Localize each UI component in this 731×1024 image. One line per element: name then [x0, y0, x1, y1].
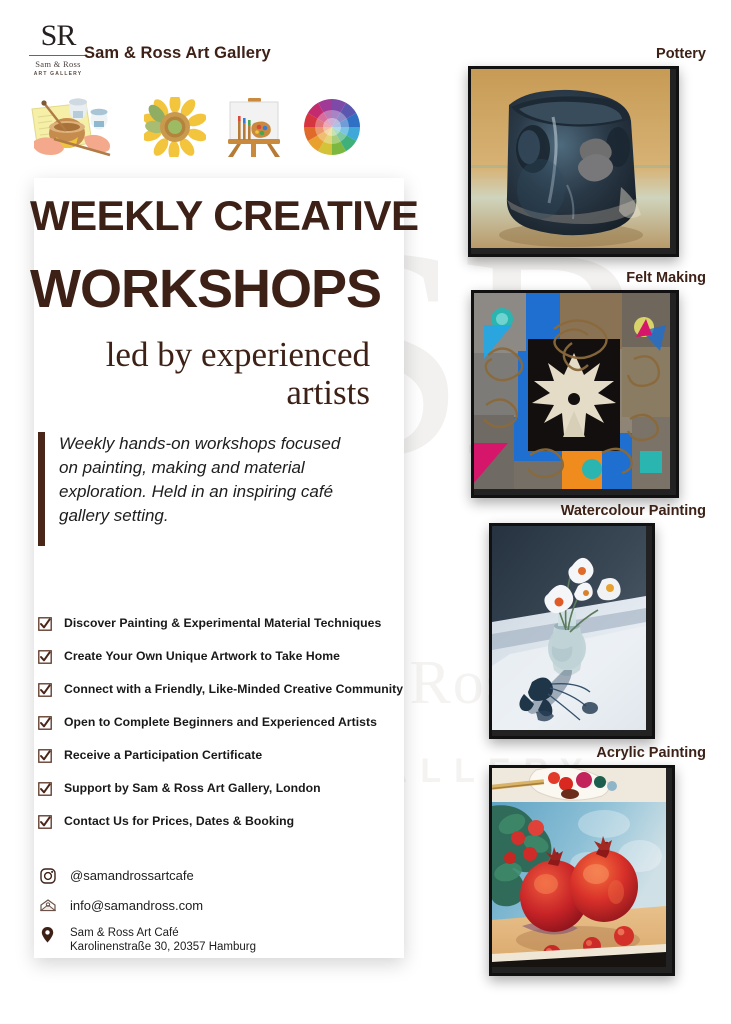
- gallery-image-frame[interactable]: [468, 66, 679, 257]
- contact-email[interactable]: info@samandross.com: [40, 898, 256, 917]
- checkmark-icon: [38, 749, 52, 768]
- felted-sunflower-icon: [144, 97, 206, 162]
- checklist-label: Create Your Own Unique Artwork to Take H…: [64, 649, 340, 663]
- easel-palette-icon: [224, 96, 284, 163]
- checklist-item[interactable]: Open to Complete Beginners and Experienc…: [38, 715, 458, 735]
- checkmark-icon: [38, 716, 52, 735]
- checklist-label: Support by Sam & Ross Art Gallery, Londo…: [64, 781, 321, 795]
- checkmark-icon: [38, 683, 52, 702]
- gallery-label: Felt Making: [460, 270, 731, 286]
- description-text: Weekly hands-on workshops focused on pai…: [59, 432, 359, 546]
- location-pin-icon: [40, 926, 58, 949]
- checklist-label: Discover Painting & Experimental Materia…: [64, 616, 381, 630]
- gallery-logo: SR Sam & Ross ART GALLERY: [24, 20, 92, 77]
- felt-making-image: [474, 293, 670, 489]
- headline-line-3: led by experienced artists: [30, 336, 370, 412]
- description-block: Weekly hands-on workshops focused on pai…: [38, 432, 359, 546]
- gallery-label: Pottery: [460, 46, 731, 62]
- checklist-label: Contact Us for Prices, Dates & Booking: [64, 814, 294, 828]
- pottery-image: [471, 69, 670, 248]
- checklist-item[interactable]: Receive a Participation Certificate: [38, 748, 458, 768]
- checklist-item[interactable]: Discover Painting & Experimental Materia…: [38, 616, 458, 636]
- envelope-icon: [40, 898, 58, 917]
- gallery-item-pottery: Pottery: [460, 46, 731, 257]
- checklist-label: Connect with a Friendly, Like-Minded Cre…: [64, 682, 403, 696]
- logo-tagline: ART GALLERY: [24, 71, 92, 77]
- checklist-item[interactable]: Contact Us for Prices, Dates & Booking: [38, 814, 458, 834]
- benefits-checklist: Discover Painting & Experimental Materia…: [38, 616, 458, 847]
- checkmark-icon: [38, 782, 52, 801]
- checklist-label: Open to Complete Beginners and Experienc…: [64, 715, 377, 729]
- checklist-item[interactable]: Create Your Own Unique Artwork to Take H…: [38, 649, 458, 669]
- gallery-item-acrylic: Acrylic Painting: [460, 745, 731, 976]
- gallery-item-felt: Felt Making: [460, 270, 731, 498]
- gallery-image-frame[interactable]: [471, 290, 679, 498]
- contact-instagram[interactable]: @samandrossartcafe: [40, 868, 256, 889]
- checklist-label: Receive a Participation Certificate: [64, 748, 262, 762]
- checkmark-icon: [38, 650, 52, 669]
- colour-wheel-icon: [302, 97, 362, 162]
- gallery-label: Watercolour Painting: [460, 503, 731, 519]
- gallery-item-watercolour: Watercolour Painting: [460, 503, 731, 739]
- checkmark-icon: [38, 617, 52, 636]
- headline-line-1: WEEKLY CREATIVE: [30, 192, 418, 240]
- contact-block: @samandrossartcafe info@samandross.com: [40, 868, 256, 964]
- acrylic-image: [492, 768, 666, 967]
- pottery-painting-icon: [26, 97, 126, 162]
- checklist-item[interactable]: Connect with a Friendly, Like-Minded Cre…: [38, 682, 458, 702]
- logo-divider: [29, 55, 87, 56]
- checklist-item[interactable]: Support by Sam & Ross Art Gallery, Londo…: [38, 781, 458, 801]
- instagram-icon: [40, 868, 58, 889]
- gallery-image-frame[interactable]: [489, 765, 675, 976]
- watercolour-image: [492, 526, 646, 730]
- art-icon-row: [26, 96, 362, 163]
- poster-root: SR Sam & Ross ART GALLERY SR Sam & Ross …: [0, 0, 731, 1024]
- venue-label: Sam & Ross Art Café: [70, 927, 179, 939]
- contact-address[interactable]: Sam & Ross Art Café Karolinenstraße 30, …: [40, 926, 256, 955]
- street-address: Karolinenstraße 30, 20357 Hamburg: [70, 941, 256, 953]
- venue-name: Sam & Ross Art Café Karolinenstraße 30, …: [70, 926, 256, 955]
- checkmark-icon: [38, 815, 52, 834]
- logo-monogram: SR: [24, 20, 92, 52]
- email-address: info@samandross.com: [70, 898, 203, 914]
- gallery-label: Acrylic Painting: [460, 745, 731, 761]
- instagram-handle: @samandrossartcafe: [70, 868, 194, 884]
- headline-line-2: WORKSHOPS: [30, 258, 381, 320]
- logo-name: Sam & Ross: [24, 59, 92, 69]
- gallery-image-frame[interactable]: [489, 523, 655, 739]
- description-accent-bar: [38, 432, 45, 546]
- page-title: Sam & Ross Art Gallery: [84, 44, 271, 63]
